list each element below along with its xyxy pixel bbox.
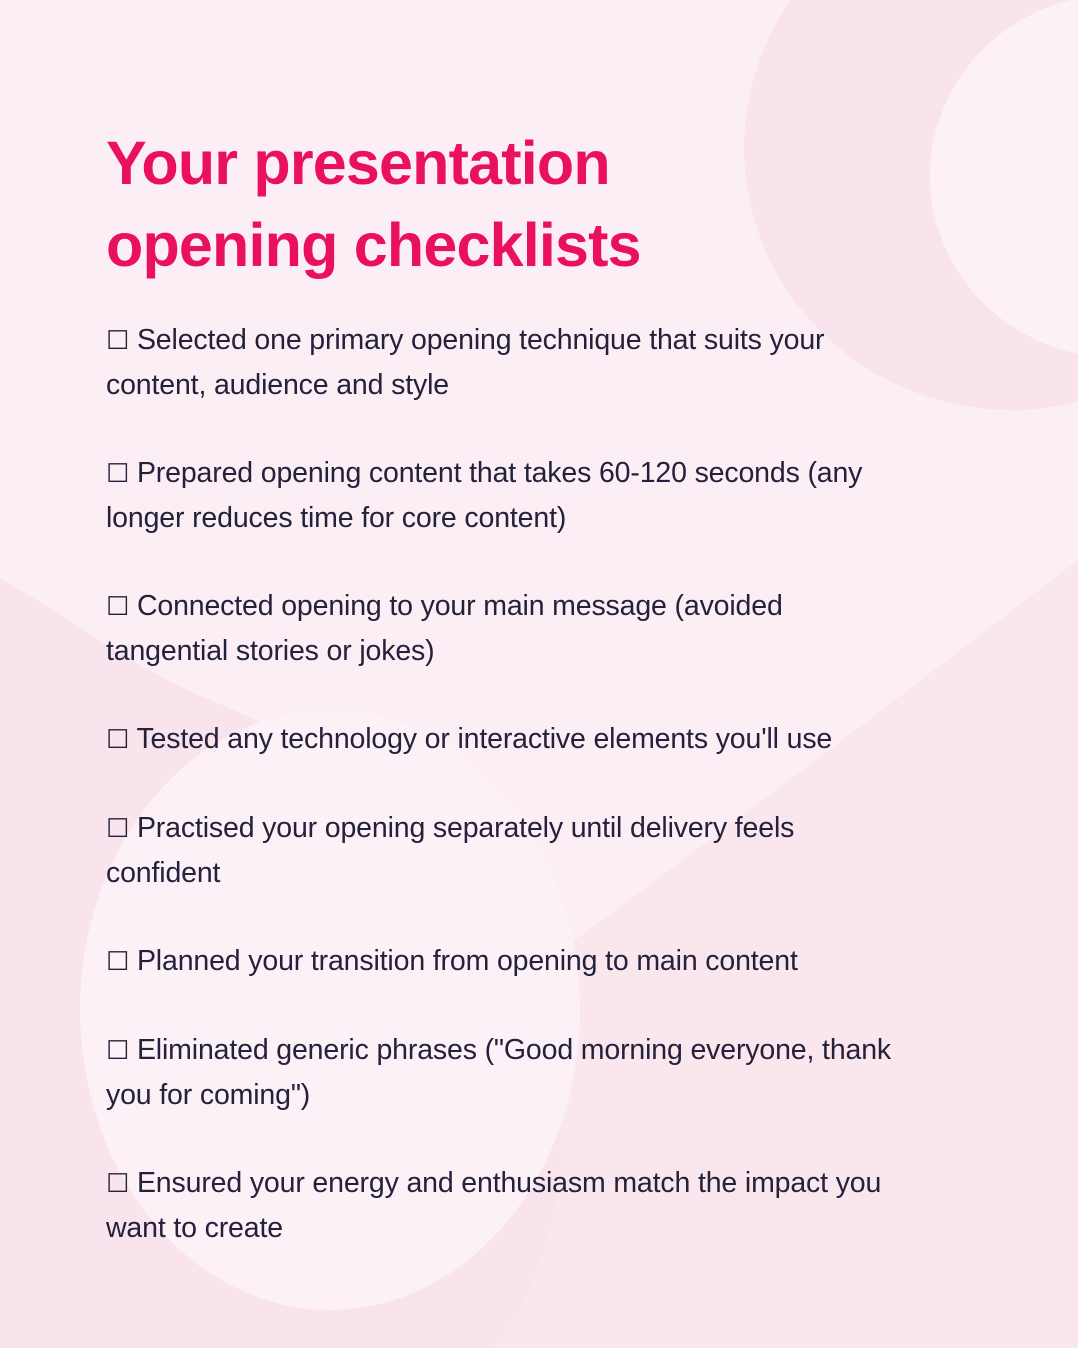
checkbox-icon[interactable]: ☐ xyxy=(106,1169,129,1199)
checklist-item-label: Planned your transition from opening to … xyxy=(137,945,798,977)
checkbox-icon[interactable]: ☐ xyxy=(106,725,129,755)
checklist: ☐ Selected one primary opening technique… xyxy=(106,318,906,1250)
checklist-item[interactable]: ☐ Practised your opening separately unti… xyxy=(106,806,906,895)
checkbox-icon[interactable]: ☐ xyxy=(106,1036,129,1066)
checklist-item-label: Ensured your energy and enthusiasm match… xyxy=(106,1167,881,1244)
checklist-item[interactable]: ☐ Selected one primary opening technique… xyxy=(106,318,906,407)
checklist-item-label: Connected opening to your main message (… xyxy=(106,590,783,667)
checklist-item[interactable]: ☐ Connected opening to your main message… xyxy=(106,584,906,673)
page-title: Your presentation opening checklists xyxy=(106,122,806,286)
checklist-item[interactable]: ☐ Ensured your energy and enthusiasm mat… xyxy=(106,1161,906,1250)
checklist-item-label: Eliminated generic phrases ("Good mornin… xyxy=(106,1034,891,1111)
checkbox-icon[interactable]: ☐ xyxy=(106,592,129,622)
poster-canvas: Your presentation opening checklists ☐ S… xyxy=(0,0,1078,1348)
page-title-line-1: Your presentation xyxy=(106,122,806,204)
checklist-item[interactable]: ☐ Tested any technology or interactive e… xyxy=(106,717,906,762)
page-title-line-2: opening checklists xyxy=(106,204,806,286)
checkbox-icon[interactable]: ☐ xyxy=(106,459,129,489)
checklist-item[interactable]: ☐ Eliminated generic phrases ("Good morn… xyxy=(106,1028,906,1117)
checklist-item[interactable]: ☐ Planned your transition from opening t… xyxy=(106,939,906,984)
checklist-item-label: Tested any technology or interactive ele… xyxy=(136,723,832,755)
checklist-item[interactable]: ☐ Prepared opening content that takes 60… xyxy=(106,451,906,540)
checklist-item-label: Selected one primary opening technique t… xyxy=(106,324,824,401)
checkbox-icon[interactable]: ☐ xyxy=(106,326,129,356)
checklist-item-label: Practised your opening separately until … xyxy=(106,812,794,889)
checkbox-icon[interactable]: ☐ xyxy=(106,947,129,977)
checkbox-icon[interactable]: ☐ xyxy=(106,814,129,844)
checklist-item-label: Prepared opening content that takes 60-1… xyxy=(106,457,862,534)
